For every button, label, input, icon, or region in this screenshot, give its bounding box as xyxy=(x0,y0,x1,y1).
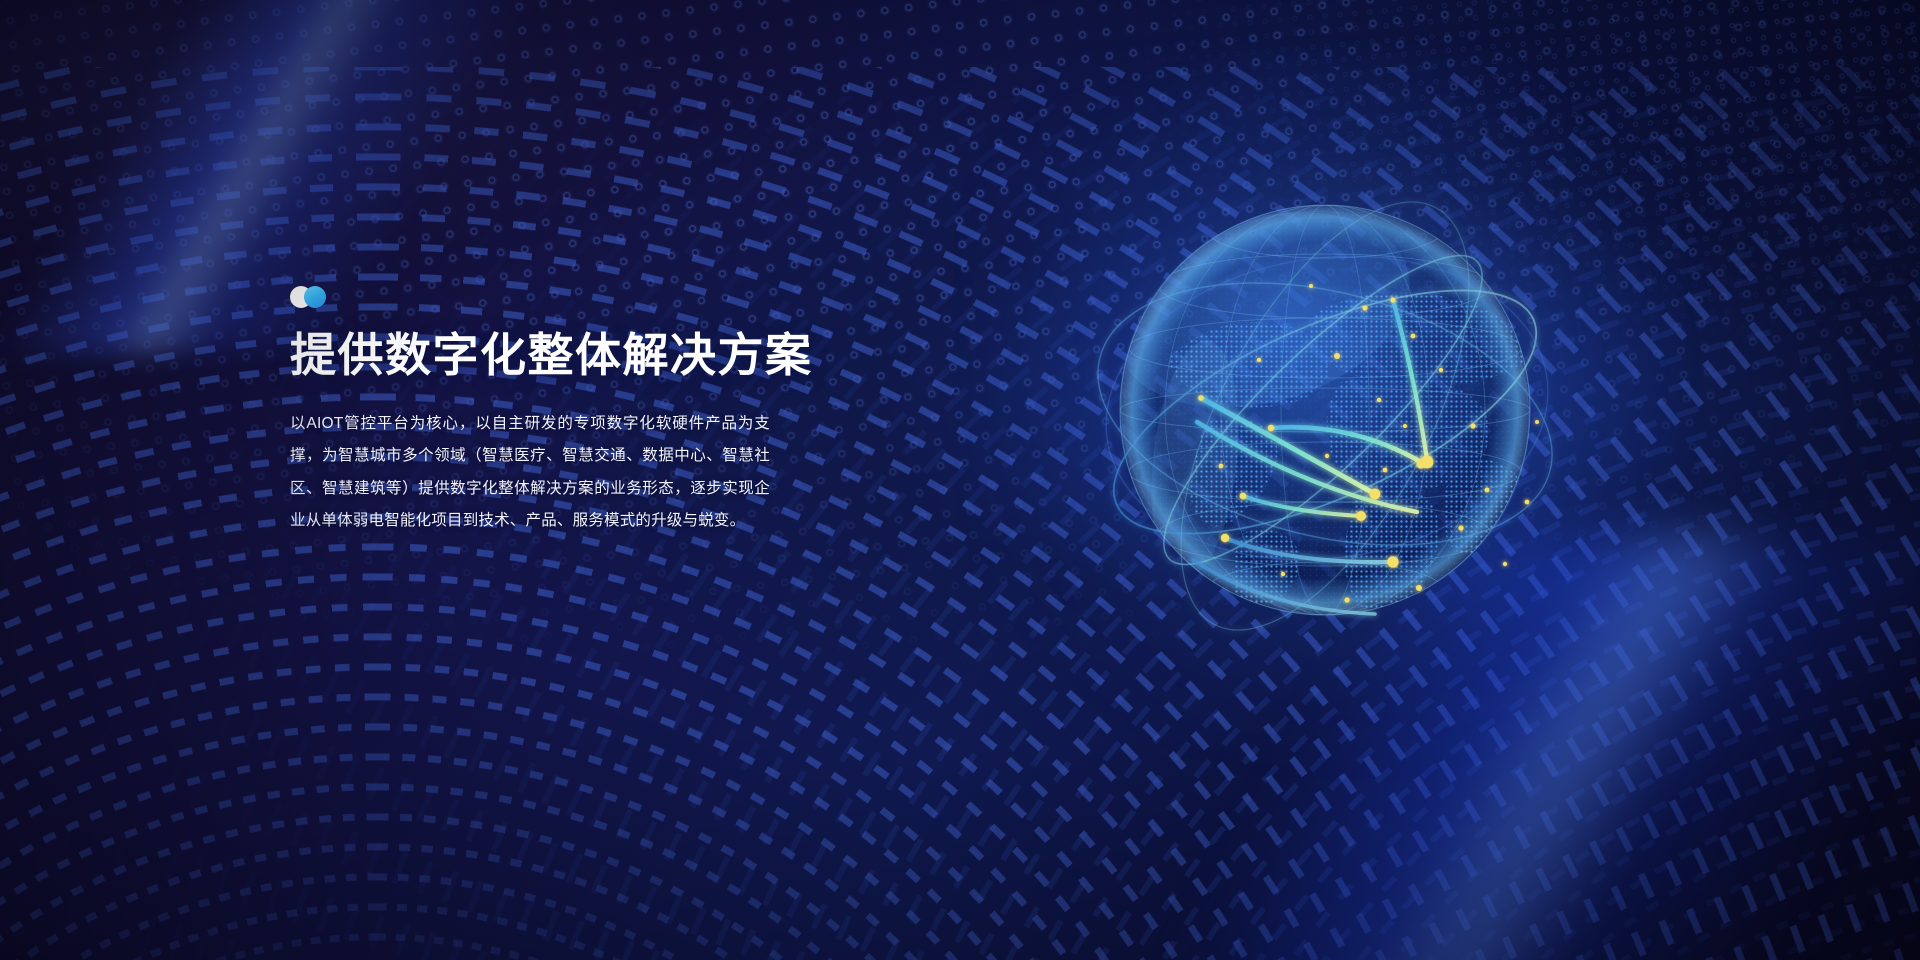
banner-description: 以AIOT管控平台为核心，以自主研发的专项数字化软硬件产品为支撑，为智慧城市多个… xyxy=(290,408,770,538)
hero-banner: 提供数字化整体解决方案 以AIOT管控平台为核心，以自主研发的专项数字化软硬件产… xyxy=(0,0,1920,960)
digital-globe xyxy=(1075,160,1575,660)
globe-svg xyxy=(1075,160,1575,660)
banner-content: 提供数字化整体解决方案 以AIOT管控平台为核心，以自主研发的专项数字化软硬件产… xyxy=(290,286,770,538)
cyan-dot-icon xyxy=(304,286,326,308)
page-title: 提供数字化整体解决方案 xyxy=(290,330,770,382)
decorative-dot-mark xyxy=(290,286,342,308)
